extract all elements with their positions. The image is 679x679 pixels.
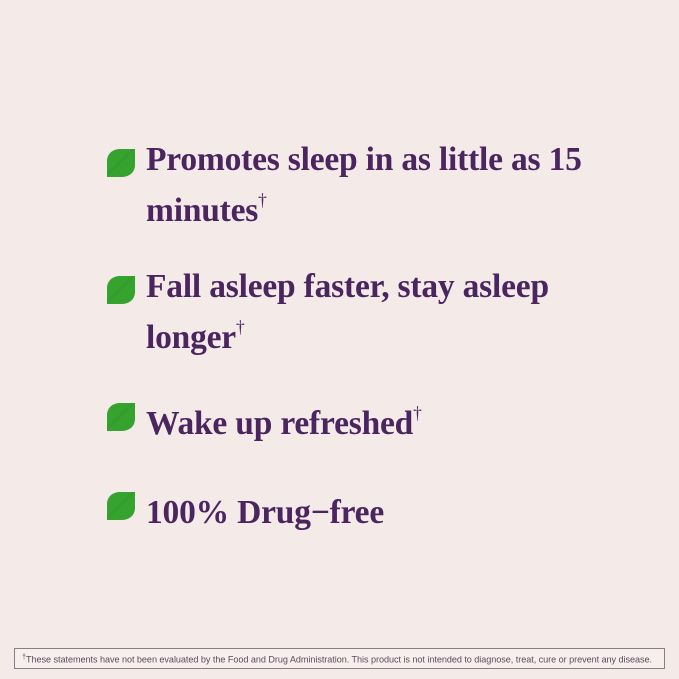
benefits-list: Promotes sleep in as little as 15 minute… <box>106 138 606 533</box>
list-item: 100% Drug−free <box>106 481 606 533</box>
list-item: Promotes sleep in as little as 15 minute… <box>106 138 606 231</box>
benefit-label: Fall asleep faster, stay asleep longer† <box>146 265 606 358</box>
footnote-marker: † <box>236 317 245 337</box>
leaf-icon <box>106 481 146 521</box>
benefit-label: 100% Drug−free <box>146 481 606 533</box>
benefit-label: Wake up refreshed† <box>146 392 606 444</box>
disclaimer-box: †These statements have not been evaluate… <box>14 648 665 669</box>
footnote-marker: † <box>413 403 422 423</box>
product-benefits-panel: Promotes sleep in as little as 15 minute… <box>0 0 679 679</box>
footnote-marker: † <box>258 190 267 210</box>
disclaimer-text: †These statements have not been evaluate… <box>15 651 652 665</box>
leaf-icon <box>106 138 146 178</box>
benefit-label: Promotes sleep in as little as 15 minute… <box>146 138 606 231</box>
list-item: Wake up refreshed† <box>106 392 606 444</box>
list-item: Fall asleep faster, stay asleep longer† <box>106 265 606 358</box>
leaf-icon <box>106 265 146 305</box>
leaf-icon <box>106 392 146 432</box>
